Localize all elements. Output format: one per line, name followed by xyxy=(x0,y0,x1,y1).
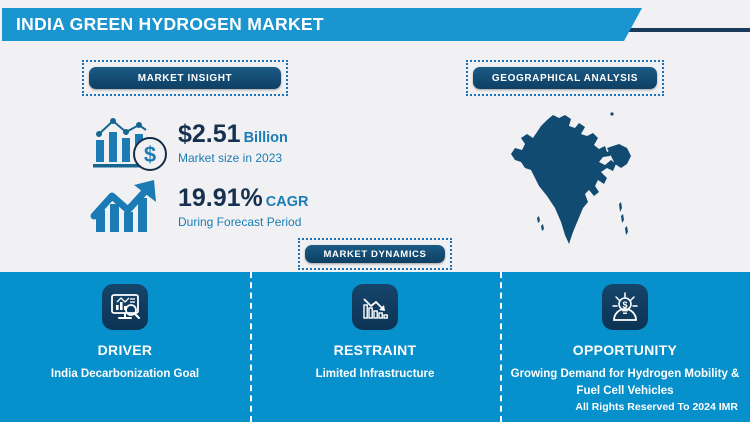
header-banner-shadow xyxy=(2,41,634,44)
market-insight-pill: MARKET INSIGHT xyxy=(89,67,281,89)
driver-description: India Decarbonization Goal xyxy=(51,366,199,383)
market-dynamics-pill: MARKET DYNAMICS xyxy=(305,245,445,263)
cagr-value: 19.91% xyxy=(178,184,263,212)
declining-bar-chart-icon xyxy=(352,284,398,330)
india-map xyxy=(495,108,665,258)
market-dynamics-label: MARKET DYNAMICS xyxy=(324,249,427,260)
market-size-stat: $ $2.51Billion Market size in 2023 xyxy=(88,112,288,174)
growth-arrow-icon xyxy=(88,176,172,238)
market-dynamics-badge: MARKET DYNAMICS xyxy=(298,238,452,270)
driver-title: DRIVER xyxy=(98,342,153,358)
restraint-description: Limited Infrastructure xyxy=(316,366,435,383)
geographical-analysis-pill: GEOGRAPHICAL ANALYSIS xyxy=(473,67,657,89)
cagr-value-row: 19.91%CAGR xyxy=(178,185,309,211)
dynamics-column-restraint: RESTRAINT Limited Infrastructure xyxy=(250,272,500,422)
header: INDIA GREEN HYDROGEN MARKET xyxy=(0,8,750,42)
page-title: INDIA GREEN HYDROGEN MARKET xyxy=(2,14,324,35)
header-banner: INDIA GREEN HYDROGEN MARKET xyxy=(2,8,642,41)
cagr-caption: During Forecast Period xyxy=(178,215,309,229)
dynamics-column-opportunity: $ OPPORTUNITY Growing Demand for Hydroge… xyxy=(500,272,750,422)
cagr-text: 19.91%CAGR During Forecast Period xyxy=(178,185,309,229)
restraint-title: RESTRAINT xyxy=(334,342,417,358)
svg-text:$: $ xyxy=(144,142,156,167)
market-size-text: $2.51Billion Market size in 2023 xyxy=(178,121,288,165)
market-size-unit: Billion xyxy=(244,130,288,146)
market-size-caption: Market size in 2023 xyxy=(178,151,288,165)
cagr-unit: CAGR xyxy=(266,194,309,210)
cagr-stat: 19.91%CAGR During Forecast Period xyxy=(88,176,309,238)
market-insight-badge: MARKET INSIGHT xyxy=(82,60,288,96)
market-size-value: $2.51 xyxy=(178,120,241,148)
market-insight-label: MARKET INSIGHT xyxy=(138,73,233,84)
lightbulb-dollar-icon: $ xyxy=(602,284,648,330)
geographical-analysis-badge: GEOGRAPHICAL ANALYSIS xyxy=(466,60,664,96)
opportunity-title: OPPORTUNITY xyxy=(573,342,677,358)
opportunity-description: Growing Demand for Hydrogen Mobility & F… xyxy=(510,366,740,399)
geographical-analysis-label: GEOGRAPHICAL ANALYSIS xyxy=(492,73,638,84)
copyright-notice: All Rights Reserved To 2024 IMR xyxy=(575,401,738,413)
bar-chart-dollar-icon: $ xyxy=(88,112,172,174)
dynamics-column-driver: DRIVER India Decarbonization Goal xyxy=(0,272,250,422)
market-size-value-row: $2.51Billion xyxy=(178,121,288,147)
monitor-analytics-magnifier-icon xyxy=(102,284,148,330)
